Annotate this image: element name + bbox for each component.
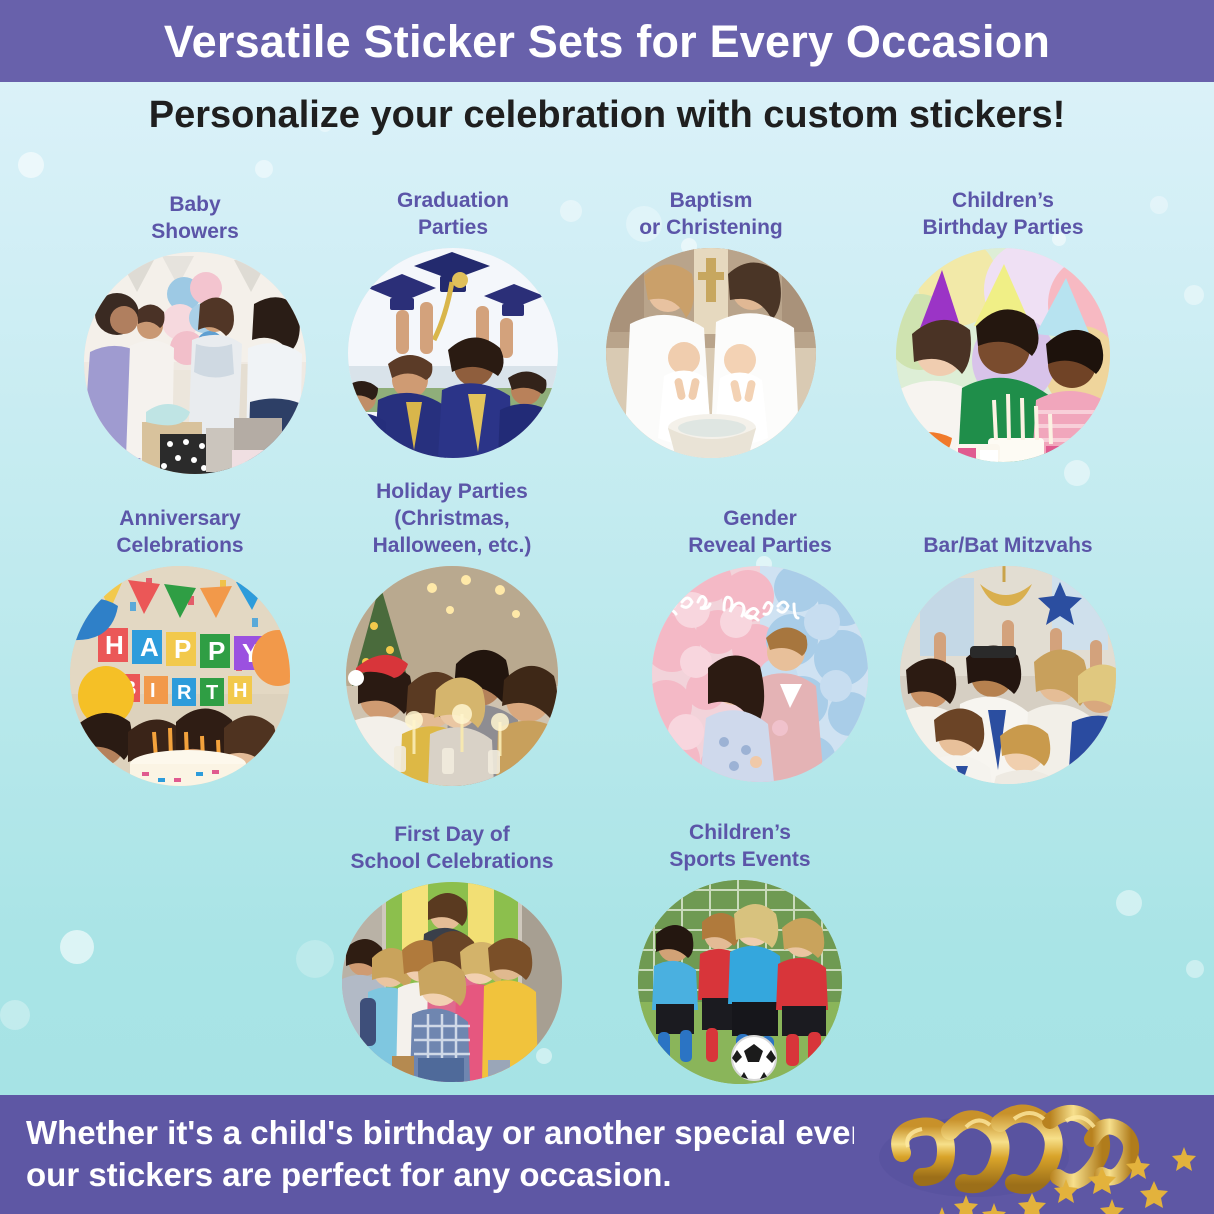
occasion-photo-bar-bat-mitzvahs — [900, 566, 1116, 784]
photo-childrens-birthday-svg — [896, 248, 1110, 462]
bokeh-dot — [1116, 890, 1142, 916]
occasion-photo-holiday-parties — [346, 566, 558, 786]
occasion-photo-first-day-of-school — [342, 882, 562, 1082]
occasion-item-childrens-sports[interactable]: Children’s Sports Events — [638, 880, 842, 1084]
photo-school-svg — [342, 882, 562, 1082]
ribbon-svg — [854, 1095, 1214, 1214]
occasion-photo-childrens-birthday — [896, 248, 1110, 462]
occasion-label: Children’s Birthday Parties — [838, 188, 1168, 242]
photo-sports-svg — [638, 880, 842, 1084]
bokeh-dot — [60, 930, 94, 964]
occasion-photo-baptism — [606, 248, 816, 458]
photo-baptism-svg — [606, 248, 816, 458]
bokeh-dot — [255, 160, 273, 178]
svg-text:A: A — [140, 632, 159, 662]
photo-anniversary-svg: H A P P Y B I R T H — [70, 566, 290, 786]
infographic-poster: Versatile Sticker Sets for Every Occasio… — [0, 0, 1214, 1214]
occasion-label: First Day of School Celebrations — [287, 822, 617, 876]
bokeh-dot — [1186, 960, 1204, 978]
svg-text:I: I — [150, 680, 156, 702]
footer-text: Whether it's a child's birthday or anoth… — [26, 1112, 896, 1196]
bokeh-dot — [18, 152, 44, 178]
occasion-item-gender-reveal[interactable]: Gender Reveal Parties — [652, 566, 868, 782]
photo-holiday-svg — [346, 566, 558, 786]
occasion-item-bar-bat-mitzvahs[interactable]: Bar/Bat Mitzvahs — [900, 566, 1116, 784]
photo-graduation-svg — [348, 248, 558, 458]
bokeh-dot — [1184, 285, 1204, 305]
occasion-photo-gender-reveal — [652, 566, 868, 782]
occasion-photo-anniversary: H A P P Y B I R T H — [70, 566, 290, 786]
bokeh-dot — [296, 940, 334, 978]
subtitle: Personalize your celebration with custom… — [0, 95, 1214, 137]
svg-text:R: R — [177, 682, 192, 704]
photo-baby-showers-svg — [84, 252, 306, 474]
occasion-item-first-day-of-school[interactable]: First Day of School Celebrations — [342, 882, 562, 1082]
svg-text:H: H — [105, 630, 124, 660]
footer-band: Whether it's a child's birthday or anoth… — [0, 1095, 1214, 1214]
photo-gender-reveal-svg — [652, 566, 868, 782]
occasion-item-holiday-parties[interactable]: Holiday Parties (Christmas, Halloween, e… — [346, 566, 558, 786]
gold-ribbon-icon — [854, 1095, 1214, 1214]
svg-text:T: T — [206, 682, 218, 704]
occasion-label: Baptism or Christening — [546, 188, 876, 242]
occasion-item-anniversary[interactable]: Anniversary Celebrations H A P — [70, 566, 290, 786]
svg-text:P: P — [174, 634, 191, 664]
svg-text:H: H — [233, 680, 247, 702]
bokeh-dot — [1064, 460, 1090, 486]
occasion-photo-graduation-parties — [348, 248, 558, 458]
occasion-item-baptism[interactable]: Baptism or Christening — [606, 248, 816, 458]
occasion-photo-childrens-sports — [638, 880, 842, 1084]
photo-mitzvah-svg — [900, 566, 1116, 784]
header-band: Versatile Sticker Sets for Every Occasio… — [0, 0, 1214, 82]
occasion-item-graduation-parties[interactable]: Graduation Parties — [348, 248, 558, 458]
occasion-label: Bar/Bat Mitzvahs — [843, 533, 1173, 560]
occasion-item-baby-showers[interactable]: Baby Showers — [84, 252, 306, 474]
occasion-label: Children’s Sports Events — [575, 820, 905, 874]
page-title: Versatile Sticker Sets for Every Occasio… — [164, 19, 1050, 64]
occasion-item-childrens-birthday[interactable]: Children’s Birthday Parties — [896, 248, 1110, 462]
svg-text:P: P — [208, 636, 225, 666]
occasion-label: Holiday Parties (Christmas, Halloween, e… — [287, 479, 617, 560]
bokeh-dot — [0, 1000, 30, 1030]
occasion-photo-baby-showers — [84, 252, 306, 474]
